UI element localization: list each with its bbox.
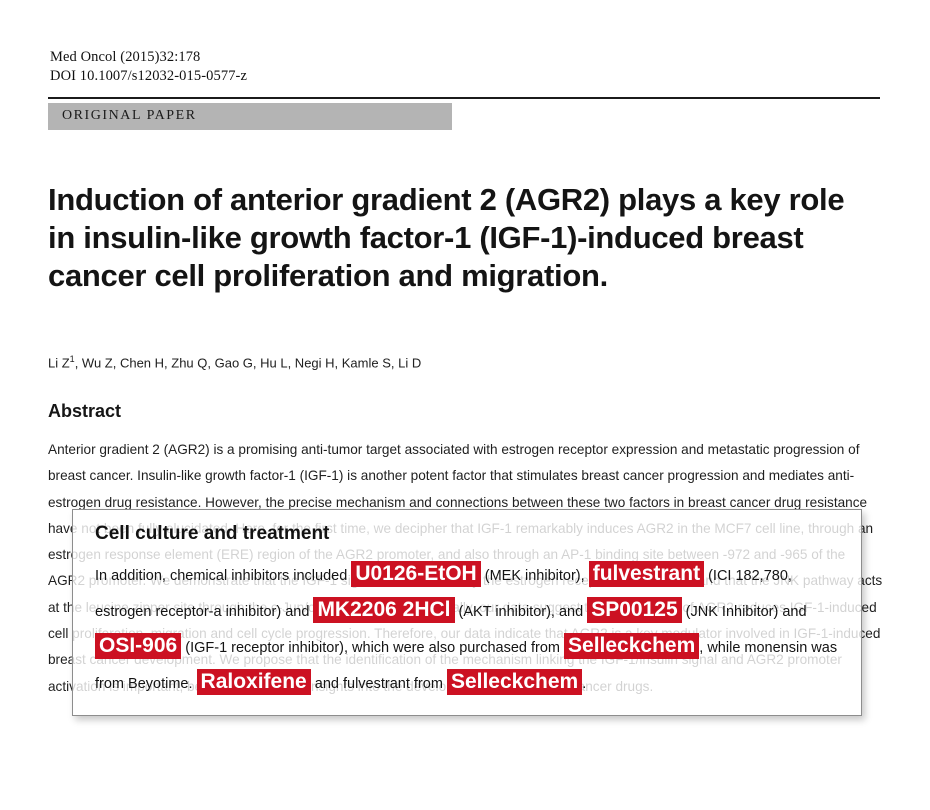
- entity-highlight[interactable]: U0126-EtOH: [351, 561, 480, 587]
- overlay-text-run: In addition, chemical inhibitors include…: [95, 568, 351, 584]
- entity-highlight[interactable]: fulvestrant: [589, 561, 704, 587]
- journal-doi: DOI 10.1007/s12032-015-0577-z: [50, 67, 247, 86]
- overlay-text-run: (MEK inhibitor),: [481, 568, 589, 584]
- overlay-text-run: (JNK Inhibitor) and: [682, 604, 807, 620]
- entity-highlight[interactable]: OSI-906: [95, 633, 181, 659]
- annotation-overlay-panel: Cell culture and treatment In addition, …: [72, 509, 862, 716]
- journal-metadata: Med Oncol (2015)32:178 DOI 10.1007/s1203…: [50, 48, 247, 86]
- overlay-heading: Cell culture and treatment: [95, 523, 329, 545]
- entity-highlight[interactable]: MK2206 2HCl: [313, 597, 454, 623]
- overlay-text-run: (AKT inhibitor), and: [455, 604, 588, 620]
- author-list-rest: , Wu Z, Chen H, Zhu Q, Gao G, Hu L, Negi…: [75, 355, 422, 370]
- author-list-prefix: Li Z: [48, 355, 70, 370]
- overlay-text-run: .: [582, 676, 586, 692]
- entity-highlight[interactable]: Raloxifene: [197, 669, 311, 695]
- entity-highlight[interactable]: Selleckchem: [447, 669, 582, 695]
- overlay-text-run: and fulvestrant from: [311, 676, 447, 692]
- article-type-bar: ORIGINAL PAPER: [48, 103, 452, 130]
- page-title: Induction of anterior gradient 2 (AGR2) …: [48, 181, 878, 295]
- overlay-body: In addition, chemical inhibitors include…: [95, 558, 845, 702]
- entity-highlight[interactable]: Selleckchem: [564, 633, 699, 659]
- entity-highlight[interactable]: SP00125: [587, 597, 681, 623]
- abstract-heading: Abstract: [48, 401, 121, 422]
- header-divider-rule: [48, 97, 880, 99]
- journal-citation: Med Oncol (2015)32:178: [50, 48, 247, 67]
- author-list: Li Z1, Wu Z, Chen H, Zhu Q, Gao G, Hu L,…: [48, 351, 878, 371]
- article-type-label: ORIGINAL PAPER: [62, 108, 197, 124]
- overlay-text-run: (IGF-1 receptor inhibitor), which were a…: [181, 640, 564, 656]
